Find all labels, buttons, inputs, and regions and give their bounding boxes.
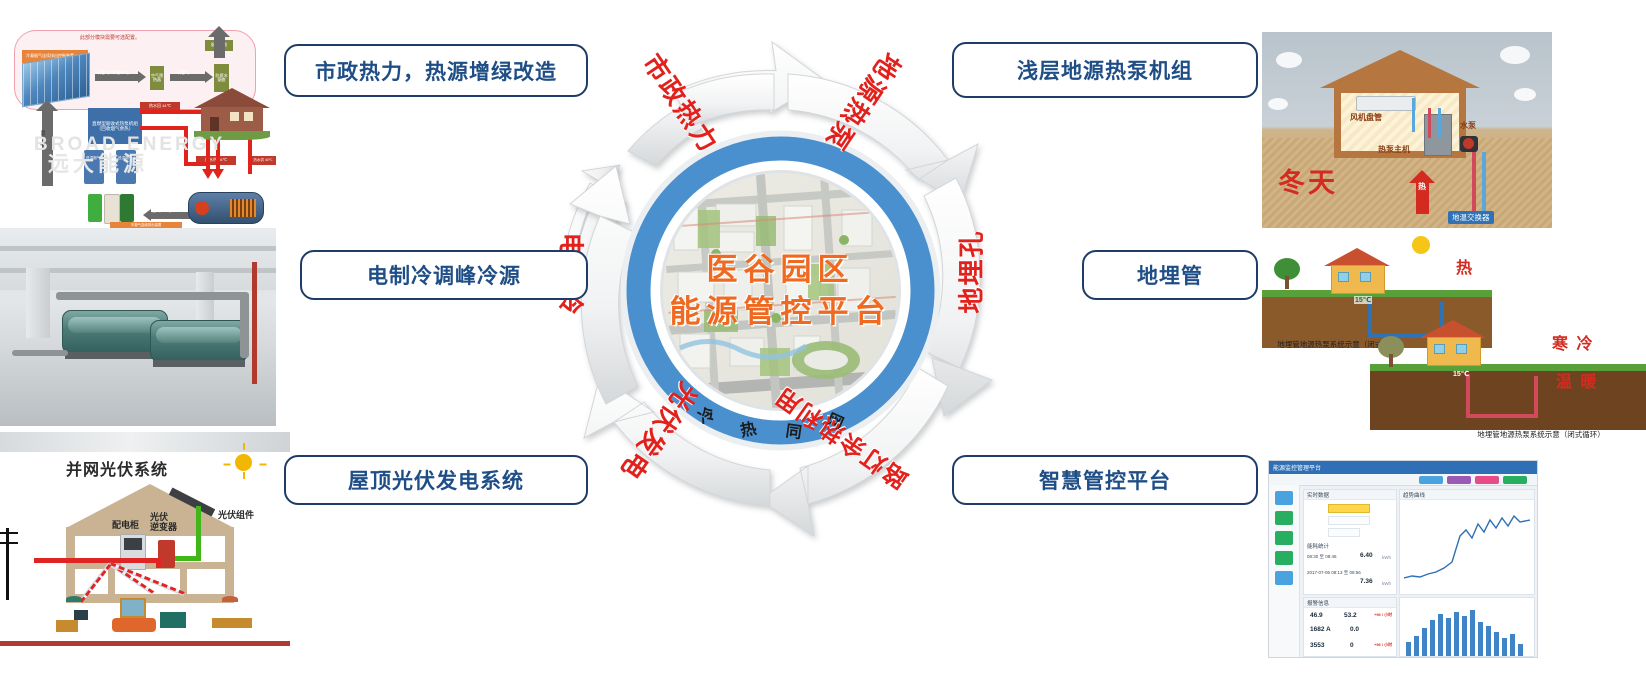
bury-house-window-3 [1434,344,1445,354]
value-3: 46.9 [1310,612,1323,619]
pv-ac-wire-main [34,558,160,563]
distribution-cabinet [120,534,146,570]
bury-temp-tag-2: 15℃ [1452,370,1470,378]
sidebar-icon-4[interactable] [1275,551,1293,565]
card-trend-title: 趋势曲线 [1403,491,1425,499]
bury-dirt-2 [1370,368,1646,430]
bar-1 [1406,642,1411,656]
text-dry-flue-2: 干烟气 [176,71,189,76]
chip-air-preheater: 空气预热器 [150,66,164,90]
bury-cold-marker: 寒 冷 [1552,330,1594,354]
pv-ac-wire-riser [156,558,161,568]
house-illustration [194,88,270,140]
sidebar-icon-1[interactable] [1275,491,1293,505]
gshp-house-roof [1320,50,1480,88]
ts-2: 2017-07-06 08:13 至 08:56 [1307,570,1361,576]
chiller-redpipe [252,262,257,384]
chiller-pipe-2 [240,292,249,358]
card-alarm: 报警信息 46.9 53.2 +96 / 小时 1682 A 0.0 3553 … [1303,597,1397,657]
pv-dc-wire-v [196,506,201,560]
bury-heat-marker: 热 [1456,254,1474,278]
box-electric-cooling-label: 电制冷调峰冷源 [367,260,521,290]
bar-8 [1462,616,1467,656]
label-water-pump: 水泵 [1460,120,1476,131]
chiller-pipe-3 [12,350,68,356]
box-smart-platform[interactable]: 智慧管控平台 [952,455,1258,505]
bar-10 [1478,622,1483,656]
furniture-tv [160,612,186,628]
image-gshp-winter: 风机盘管 热泵主机 水泵 冬天 地温交换器 热 [1262,32,1552,228]
furniture-sofa [112,618,156,632]
card-trend: 趋势曲线 [1399,489,1535,595]
value-6: 0.0 [1350,626,1359,633]
furniture-desk [56,620,78,632]
label-heat-pump: 热泵主机 [1378,144,1410,155]
label-fan-coil: 风机盘管 [1350,112,1382,123]
label-pv-inverter: 光伏逆变器 [150,512,177,533]
house-window-2 [244,112,253,121]
vessel-green [88,194,102,222]
bury-pipe-2a [1466,374,1470,418]
pv-house: 配电柜 光伏逆变器 光伏组件 [50,484,250,602]
bury-sun-icon [1412,236,1430,254]
bury-house-roof-1 [1324,248,1390,266]
vessel-white [104,194,120,224]
bury-temp-tag-1: 15℃ [1354,296,1372,304]
dashboard-sidebar[interactable] [1269,485,1300,657]
label-dimai-kong: 地埋孔 [952,229,989,313]
chip-hotwater-supply-40: 热水供 40℃ [250,156,276,165]
box-smart-platform-label: 智慧管控平台 [1039,465,1171,495]
field-3[interactable] [1328,528,1360,537]
redline-v4 [248,134,252,174]
furniture-monitor [74,610,88,620]
tree-trunk-1 [1285,276,1289,289]
trend-line-chart [1404,502,1530,588]
image-scada-dashboard: 能源监控管理平台 实时数据 能耗统计 08:30 至 08:46 6.40 kW… [1268,460,1538,658]
unit-2: kWh [1382,581,1391,586]
value-7: 3553 [1310,642,1324,649]
bury-house-window-4 [1456,344,1467,354]
bar-12 [1494,632,1499,656]
pv-title: 并网光伏系统 [66,456,168,480]
dashboard-topbar: 能源监控管理平台 [1269,461,1537,474]
bury-pipe-2b [1466,414,1538,418]
value-2: 7.36 [1360,578,1373,585]
box-shallow-gshp-label: 浅层地源热泵机组 [1017,55,1193,85]
sidebar-icon-5[interactable] [1275,571,1293,585]
chiller-drum-2 [156,327,242,343]
bar-14 [1510,634,1515,656]
gshp-blue-pipe-2 [1438,108,1441,138]
bury-house-2 [1420,320,1486,364]
pv-dc-wire-h [174,556,201,561]
bury-scene-winter: 寒 冷 温 暖 15℃ 地埋管地源热泵系统示意（闭式循环） [1370,306,1646,452]
box-municipal-heat-label: 市政热力，热源增绿改造 [315,56,557,86]
gshp-arrow-caption: 热 [1418,181,1426,192]
delta-1: +96 / 小时 [1374,612,1392,618]
bury-grass-2 [1370,364,1646,371]
box-shallow-gshp[interactable]: 浅层地源热泵机组 [952,42,1258,98]
gshp-red-pipe-1 [1428,108,1431,138]
bush-trunk [1389,354,1393,367]
bar-2 [1414,636,1419,656]
lamp-left [66,596,82,602]
card-realtime: 实时数据 能耗统计 08:30 至 08:46 6.40 kWh 2017-07… [1303,489,1397,595]
pole-crossbar-1 [0,532,18,534]
house-window-1 [230,112,239,121]
label-ground-heat-exchanger: 地温交换器 [1448,211,1494,224]
chiller-drum-1 [68,317,162,333]
snow-blob-1 [1276,52,1302,68]
redline-h2 [140,126,186,130]
sun-icon [235,454,252,471]
sun-ray-3 [260,464,267,466]
chiller-unit-2 [150,320,248,362]
pv-house-sep-2 [180,569,187,603]
box-buried-pipe-label: 地埋管 [1137,260,1203,290]
gshp-season-label: 冬天 [1278,161,1338,200]
bar-5 [1438,614,1443,656]
bury-house-roof-2 [1420,320,1486,338]
watermark-yuanda: 远大能源 [48,148,148,178]
schematic-note-top: 此部分模块需要可选配置。 [80,36,140,42]
image-chiller-plant-photo [0,228,276,426]
image-boiler-flue-gas-schematic: 此部分模块需要可选配置。 冷凝烟气连续排出控制装置 12℃ 空气预热器 防腐冰烟… [0,22,276,230]
bar-15 [1518,644,1523,656]
box-buried-pipe[interactable]: 地埋管 [1082,250,1258,300]
text-flue-temp: 烟气 80℃ [152,209,171,214]
pv-house-midfloor [66,562,234,569]
bar-13 [1502,638,1507,656]
pole-crossbar-2 [0,542,18,544]
sun-ray-4 [224,464,231,466]
bury-house-window-2 [1360,272,1371,282]
water-pump [1460,136,1478,152]
card-alarm-title: 报警信息 [1307,599,1329,607]
box-electric-cooling[interactable]: 电制冷调峰冷源 [300,250,588,300]
vessel-darkgreen [120,194,134,222]
ts-1: 08:30 至 08:46 [1307,554,1337,560]
pv-ground-line [0,641,290,646]
field-1[interactable] [1328,504,1370,513]
pv-house-sep-1 [108,569,115,603]
image-grid-tied-pv-system: 并网光伏系统 配电柜 光伏逆变器 光伏组件 [0,432,290,652]
boiler-grid [230,199,256,217]
pv-top-strip [0,432,290,452]
dashboard-header-title: 能源监控管理平台 [1273,463,1321,472]
bar-4 [1430,620,1435,656]
card-realtime-title: 实时数据 [1307,491,1329,499]
gshp-blue-pipe-1 [1412,98,1415,132]
value-8: 0 [1350,642,1354,649]
bar-11 [1486,626,1491,656]
bar-6 [1446,618,1451,656]
sidebar-icon-2[interactable] [1275,511,1293,525]
bury-house-window-1 [1338,272,1349,282]
text-dry-flue-1: 干烟气>环境10℃ [96,71,129,76]
sun-ray-1 [243,443,245,450]
lamp-right [222,596,238,602]
gshp-house: 风机盘管 热泵主机 水泵 [1320,50,1480,158]
furniture-table [212,618,252,628]
boiler-unit [188,192,264,224]
nav-chip-2[interactable] [1447,476,1471,484]
bar-9 [1470,610,1475,656]
fan-coil-unit [1356,96,1416,111]
box-municipal-heat[interactable]: 市政热力，热源增绿改造 [284,44,588,97]
value-5: 1682 A [1310,626,1331,633]
bar-7 [1454,612,1459,656]
snow-blob-4 [1268,98,1288,110]
chiller-base-2 [153,360,245,367]
value-4: 53.2 [1344,612,1357,619]
utility-pole [6,528,9,600]
image-buried-pipe-system: 热 15℃ 地埋管地源热泵系统示意（闭式循环） 寒 冷 温 暖 [1262,232,1646,452]
box-rooftop-pv-label: 屋顶光伏发电系统 [348,465,524,495]
box-rooftop-pv[interactable]: 屋顶光伏发电系统 [284,455,588,505]
photo-beam-1 [0,246,276,251]
bury-warm-marker: 温 暖 [1556,368,1598,392]
delta-2: +96 / 小时 [1374,642,1392,648]
nav-chip-3[interactable] [1475,476,1499,484]
diagram-canvas: 此部分模块需要可选配置。 冷凝烟气连续排出控制装置 12℃ 空气预热器 防腐冰烟… [0,0,1646,684]
house-roof [194,88,270,108]
chiller-pipe-1 [56,292,244,300]
bury-house-1 [1324,248,1390,292]
cabinet-screen [124,538,142,550]
furniture-picture [120,598,146,618]
bury-pipe-2c [1534,376,1538,418]
boiler-flame [195,201,209,215]
card-energy-bars [1399,597,1535,657]
arrow-exhaust-up [214,36,225,58]
label-distribution-cabinet: 配电柜 [112,520,139,530]
snow-blob-3 [1514,88,1536,101]
nav-chip-4[interactable] [1503,476,1527,484]
value-1: 6.40 [1360,552,1373,559]
redline-h3 [184,162,210,166]
label-pv-module: 光伏组件 [218,510,254,520]
nav-chip-1[interactable] [1419,476,1443,484]
sun-ray-2 [243,472,245,479]
sidebar-icon-3[interactable] [1275,531,1293,545]
card-realtime-sub: 能耗统计 [1307,542,1329,550]
snow-blob-2 [1500,46,1530,64]
unit-1: kWh [1382,555,1391,560]
bar-3 [1422,628,1427,656]
field-2[interactable] [1328,516,1370,525]
bury-caption-bottom: 地埋管地源热泵系统示意（闭式循环） [1476,430,1606,439]
